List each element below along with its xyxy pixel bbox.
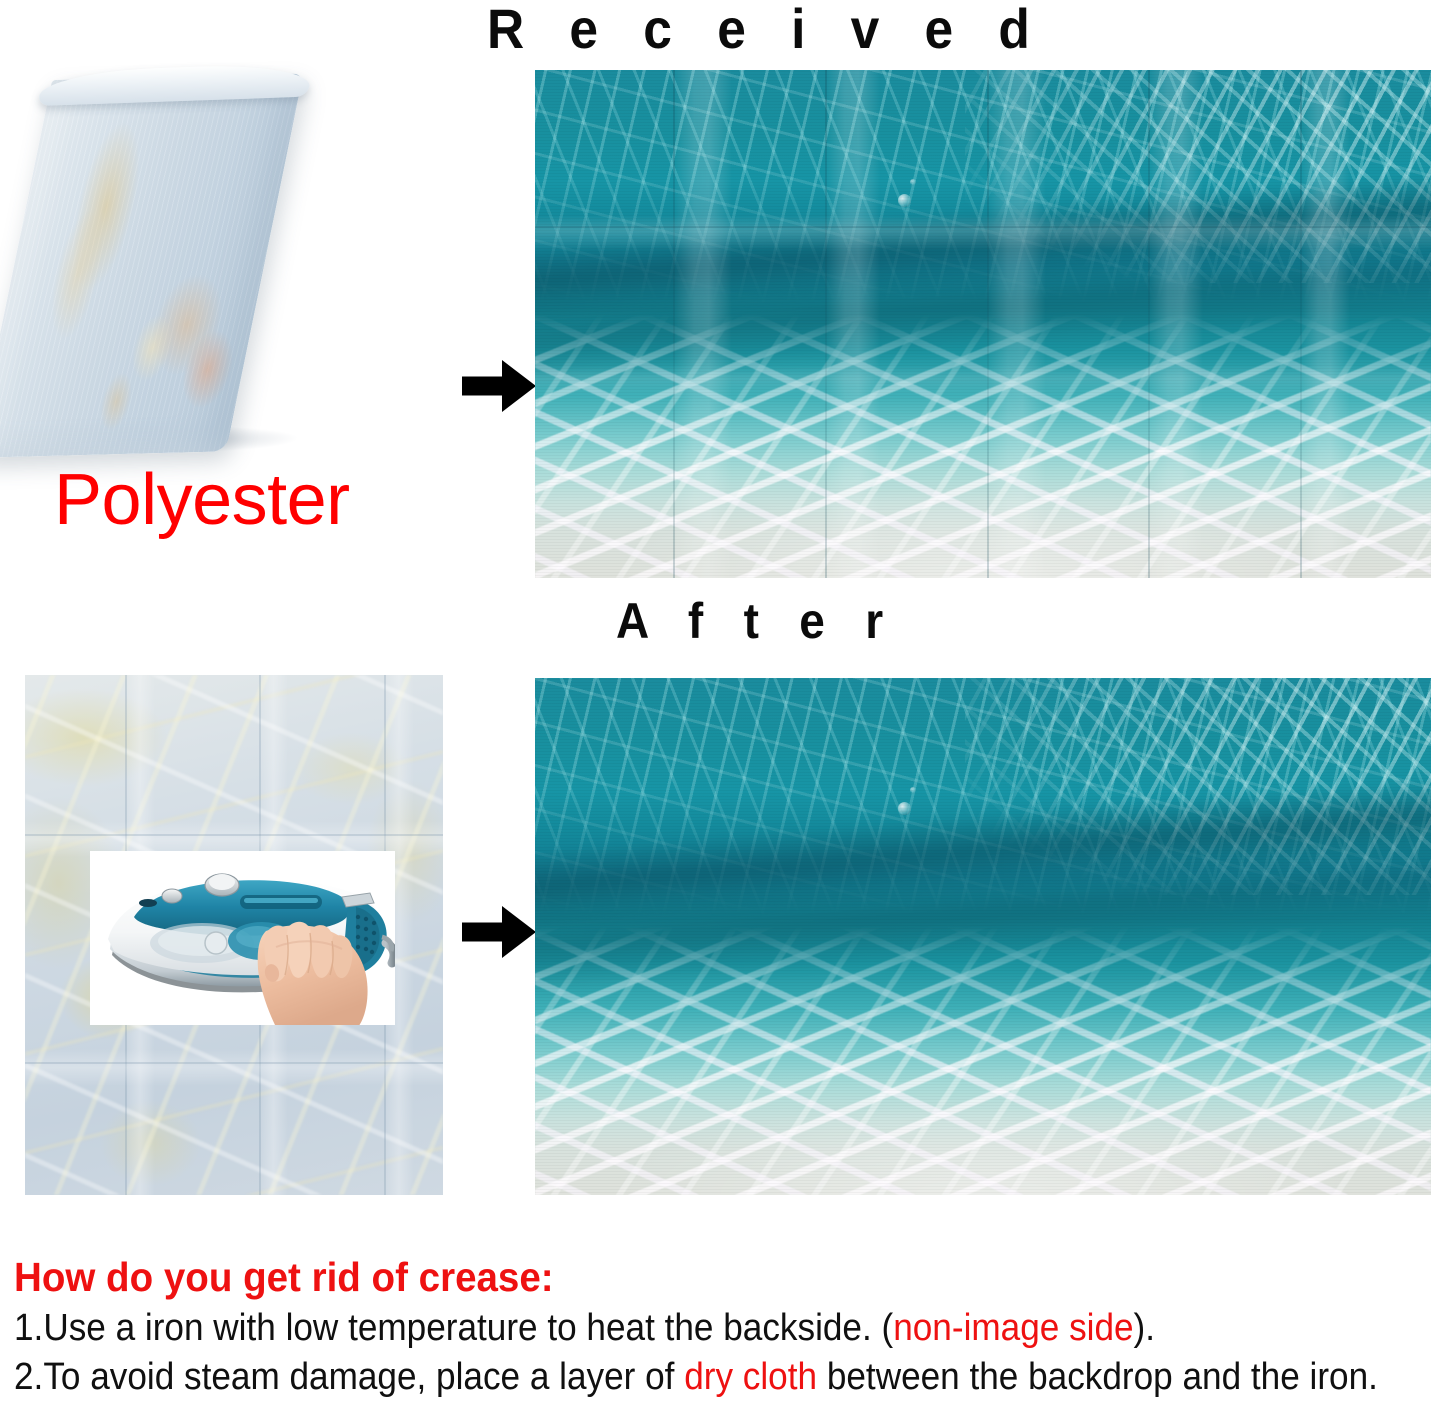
bubble (898, 802, 911, 815)
sand-caustics (535, 926, 1431, 1195)
instruction-text-b: ). (1134, 1307, 1155, 1349)
polyester-label: Polyester (54, 462, 350, 538)
arrow-right-icon (462, 360, 538, 412)
arrow-head (502, 360, 536, 412)
instruction-text-b: between the backdrop and the iron. (817, 1356, 1378, 1398)
instruction-item: 2.To avoid steam damage, place a layer o… (14, 1355, 1328, 1400)
arrow-shaft (462, 377, 506, 396)
bubble (910, 179, 916, 185)
instructions-heading: How do you get rid of crease: (14, 1254, 1349, 1300)
swatch-body (0, 73, 303, 457)
instruction-number: 1. (14, 1307, 43, 1349)
polyester-swatch (18, 74, 418, 474)
received-section-title: R e c e i v e d (487, 0, 1045, 60)
instruction-item: 1.Use a iron with low temperature to hea… (14, 1306, 1328, 1351)
instruction-number: 2. (14, 1356, 43, 1398)
steam-iron-with-hand-illustration (90, 851, 395, 1025)
arrow-right-icon (462, 906, 538, 958)
arrow-head (502, 906, 536, 958)
iron-demo-inset (90, 851, 395, 1025)
received-photo (535, 70, 1431, 578)
arrow-shaft (462, 923, 506, 942)
after-photo (535, 678, 1431, 1195)
instruction-highlight: dry cloth (684, 1356, 817, 1398)
bubble (910, 787, 916, 793)
product-instruction-graphic: R e c e i v e d Polyester (0, 0, 1437, 1401)
instruction-text-a: Use a iron with low temperature to heat … (43, 1307, 893, 1349)
after-section-title: A f t e r (616, 593, 897, 649)
sand-caustics (535, 314, 1431, 578)
instructions-block: How do you get rid of crease: 1.Use a ir… (14, 1254, 1434, 1400)
instruction-text-a: To avoid steam damage, place a layer of (43, 1356, 684, 1398)
instruction-highlight: non-image side (893, 1307, 1133, 1349)
